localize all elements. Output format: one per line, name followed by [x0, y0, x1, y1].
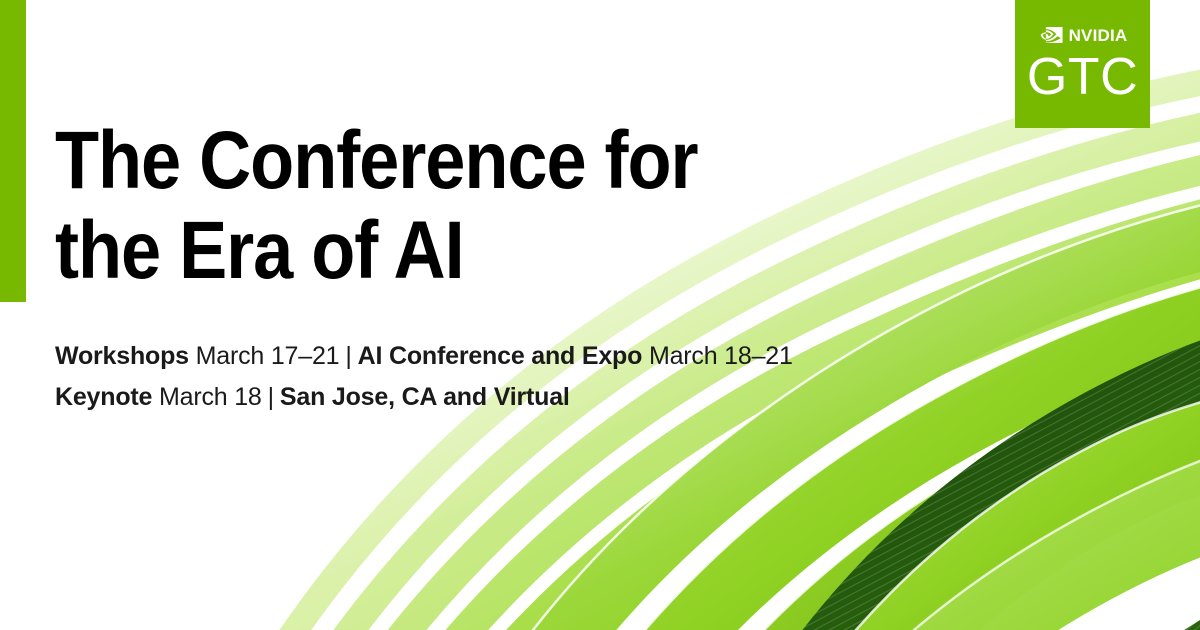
detail-line-keynote: Keynote March 18|San Jose, CA and Virtua…: [55, 377, 955, 418]
gtc-event-name: GTC: [1027, 51, 1138, 103]
detail-separator-2: |: [262, 383, 280, 411]
expo-dates: March 18–21: [649, 342, 793, 370]
page-title: The Conference for the Era of AI: [55, 116, 847, 296]
nvidia-gtc-badge: NVIDIA GTC: [1015, 0, 1150, 128]
nvidia-eye-logo-icon: [1038, 27, 1064, 43]
keynote-date: March 18: [159, 383, 262, 411]
expo-label: AI Conference and Expo: [358, 342, 643, 370]
location-label: San Jose, CA and Virtual: [280, 383, 570, 411]
nvidia-logo-lockup: NVIDIA: [1038, 26, 1128, 44]
workshops-dates: March 17–21: [196, 342, 340, 370]
headline-line-1: The Conference for: [55, 116, 847, 206]
workshops-label: Workshops: [55, 342, 189, 370]
detail-separator-1: |: [339, 342, 357, 370]
nvidia-wordmark: NVIDIA: [1069, 27, 1128, 44]
gtc-promo-banner: NVIDIA GTC The Conference for the Era of…: [0, 0, 1200, 630]
headline-line-2: the Era of AI: [55, 206, 847, 296]
event-details: Workshops March 17–21|AI Conference and …: [55, 336, 955, 417]
detail-line-workshops: Workshops March 17–21|AI Conference and …: [55, 336, 955, 377]
keynote-label: Keynote: [55, 383, 152, 411]
banner-content: The Conference for the Era of AI Worksho…: [55, 116, 955, 417]
left-accent-bar: [0, 0, 26, 302]
